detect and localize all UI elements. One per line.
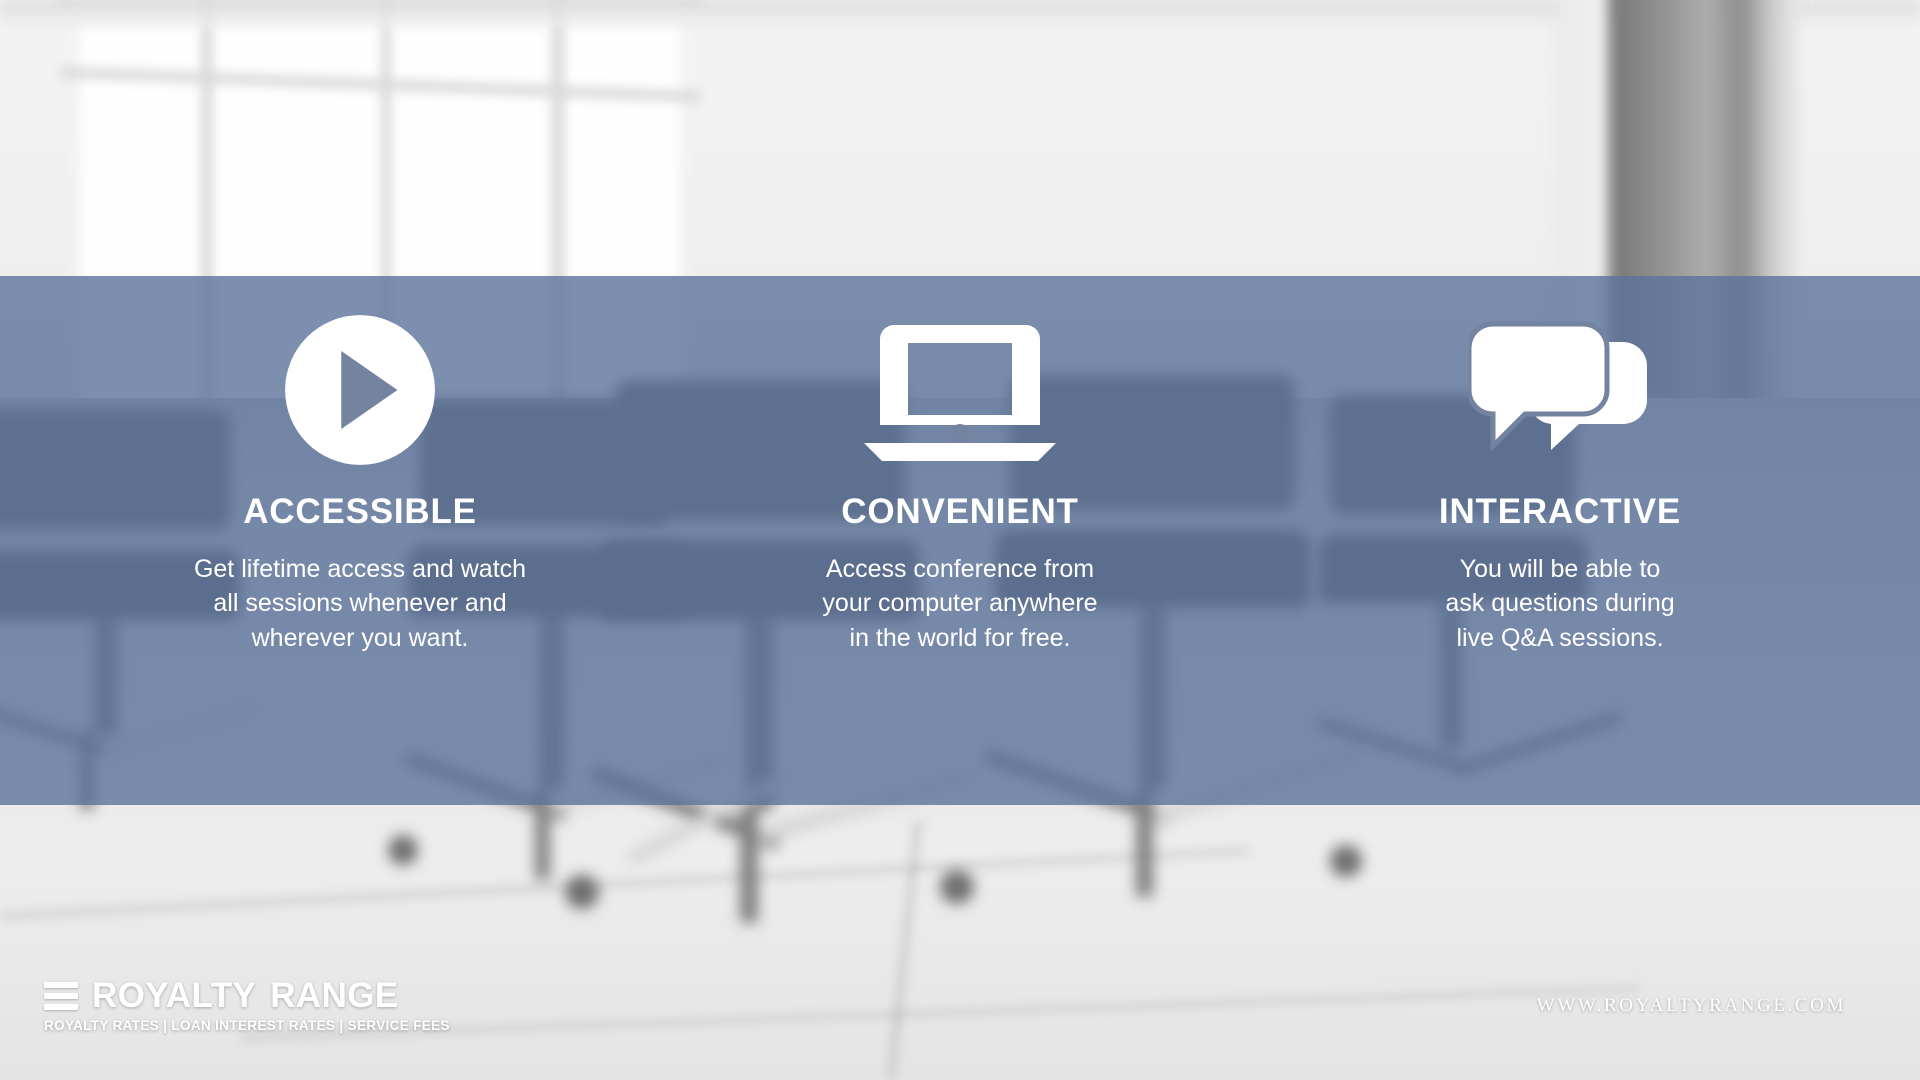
feature-body: Access conference from your computer any…: [822, 552, 1097, 655]
feature-column-accessible: ACCESSIBLE Get lifetime access and watch…: [125, 300, 595, 655]
logo-word-royalty: ROYALTY: [92, 976, 256, 1015]
feature-body-line: live Q&A sessions.: [1445, 621, 1674, 655]
play-circle-icon: [282, 300, 438, 480]
feature-title: INTERACTIVE: [1439, 492, 1681, 532]
feature-body-line: your computer anywhere: [822, 586, 1097, 620]
logo-tagline: ROYALTY RATES | LOAN INTEREST RATES | SE…: [44, 1018, 450, 1033]
feature-body: You will be able to ask questions during…: [1445, 552, 1674, 655]
feature-band: ACCESSIBLE Get lifetime access and watch…: [0, 276, 1920, 805]
website-url[interactable]: WWW.ROYALTYRANGE.COM: [1537, 995, 1846, 1017]
feature-body: Get lifetime access and watch all sessio…: [194, 552, 526, 655]
feature-body-line: all sessions whenever and: [194, 586, 526, 620]
feature-body-line: in the world for free.: [822, 621, 1097, 655]
feature-body-line: ask questions during: [1445, 586, 1674, 620]
feature-body-line: You will be able to: [1445, 552, 1674, 586]
logo-lockup: ROYALTYRANGE: [44, 978, 450, 1013]
feature-column-interactive: INTERACTIVE You will be able to ask ques…: [1325, 300, 1795, 655]
feature-body-line: Get lifetime access and watch: [194, 552, 526, 586]
feature-column-convenient: CONVENIENT Access conference from your c…: [725, 300, 1195, 655]
chat-bubbles-icon: [1469, 300, 1651, 480]
hamburger-icon: [44, 982, 78, 1010]
feature-title: CONVENIENT: [841, 492, 1078, 532]
logo-word-range: RANGE: [270, 976, 398, 1015]
feature-title: ACCESSIBLE: [243, 492, 477, 532]
feature-body-line: Access conference from: [822, 552, 1097, 586]
slide: ACCESSIBLE Get lifetime access and watch…: [0, 0, 1920, 1080]
laptop-icon: [860, 300, 1060, 480]
feature-body-line: wherever you want.: [194, 621, 526, 655]
royaltyrange-logo[interactable]: ROYALTYRANGE ROYALTY RATES | LOAN INTERE…: [44, 978, 450, 1033]
logo-wordmark: ROYALTYRANGE: [92, 978, 399, 1013]
feature-columns: ACCESSIBLE Get lifetime access and watch…: [0, 276, 1920, 805]
